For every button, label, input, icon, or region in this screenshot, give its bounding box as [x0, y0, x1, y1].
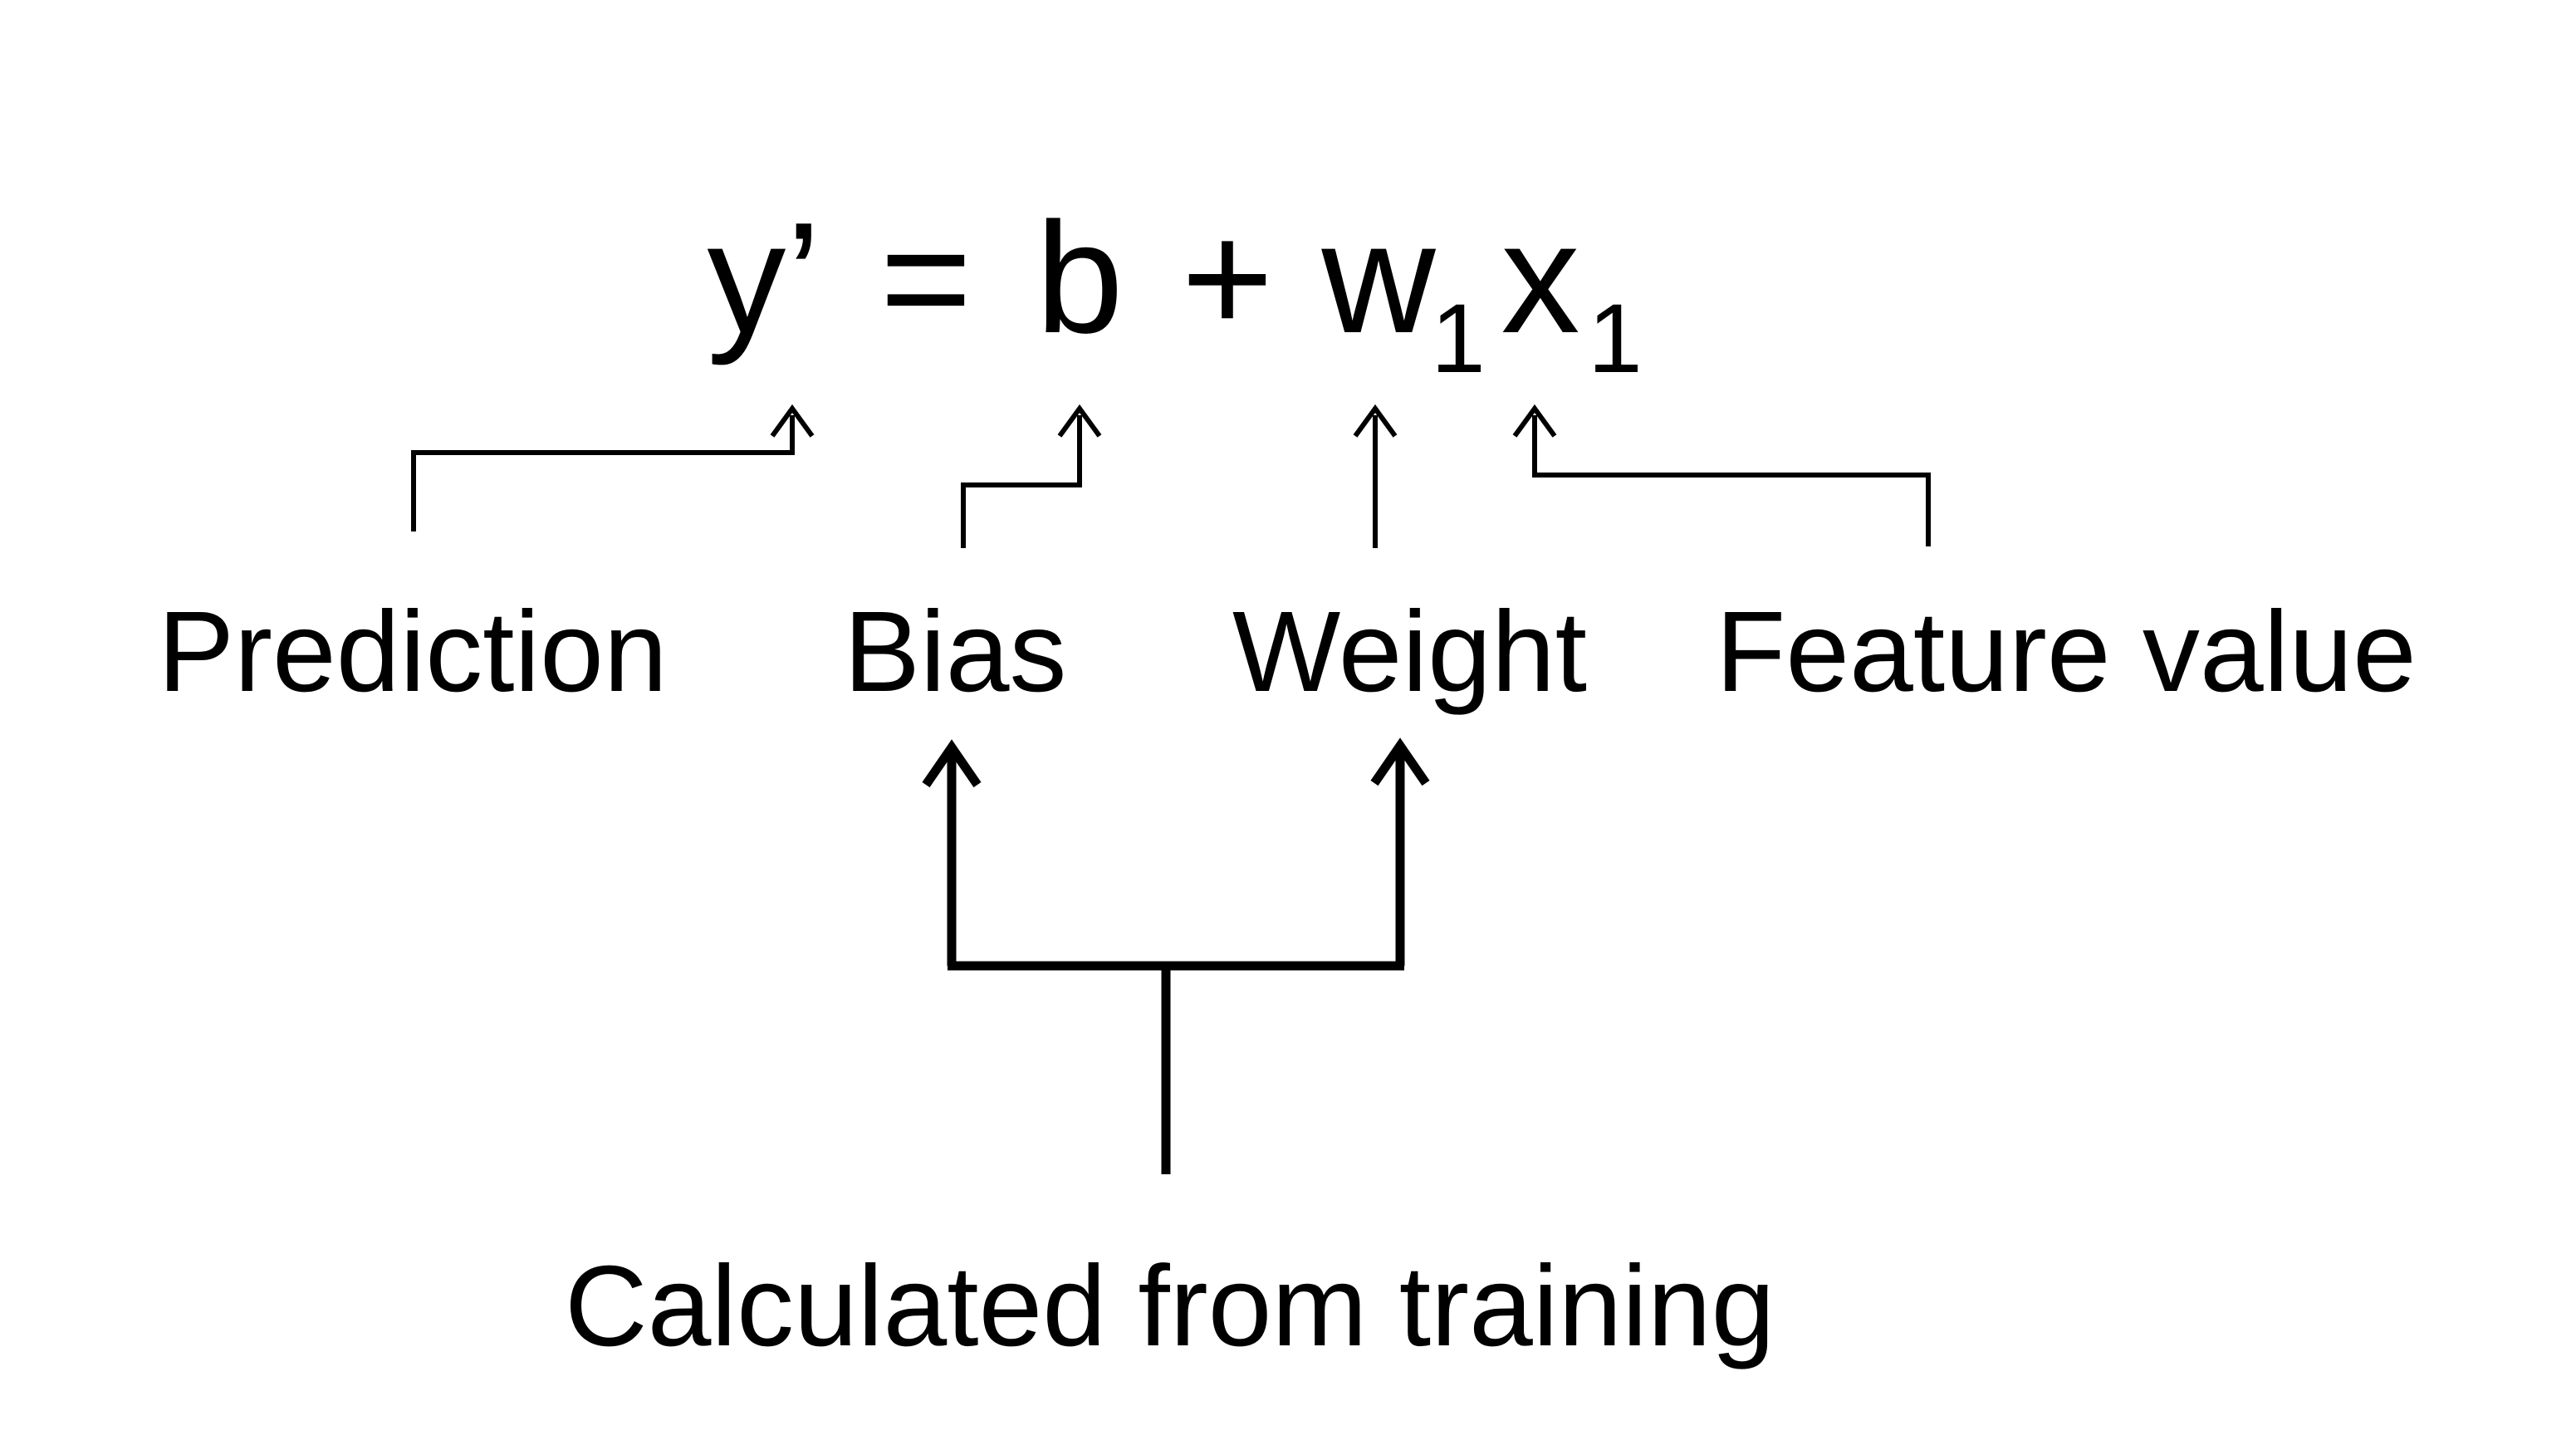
diagram-svg: y’ = b + w 1 x 1 [0, 0, 2576, 1440]
equation-y-prime: y’ [707, 190, 820, 366]
label-bias: Bias [844, 588, 1066, 716]
equation-weight-subscript: 1 [1431, 284, 1486, 394]
label-calculated-from-training: Calculated from training [565, 1242, 1775, 1370]
equation-weight-symbol: w [1320, 190, 1436, 366]
equation-bias-symbol: b [1036, 190, 1124, 366]
term-labels-row: Prediction Bias Weight Feature value [158, 588, 2417, 716]
label-feature-value: Feature value [1716, 588, 2417, 716]
label-prediction: Prediction [158, 588, 668, 716]
diagram-canvas: y’ = b + w 1 x 1 [0, 0, 2576, 1440]
equation-plus-sign: + [1182, 190, 1274, 366]
label-weight: Weight [1232, 588, 1587, 716]
equation-equals-sign: = [880, 190, 972, 366]
equation-feature-subscript: 1 [1588, 284, 1643, 394]
background [0, 0, 2576, 1440]
equation-feature-symbol: x [1501, 190, 1580, 366]
